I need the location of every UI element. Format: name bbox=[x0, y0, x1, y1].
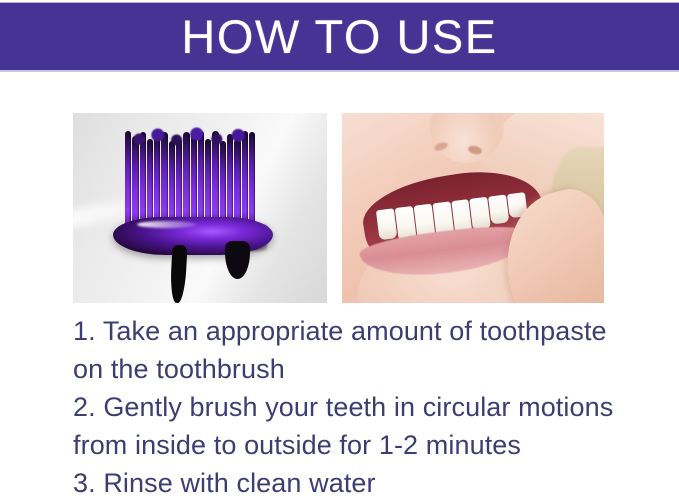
instruction-line: 2. Gently brush your teeth in circular m… bbox=[73, 388, 663, 426]
bristle-tips bbox=[123, 127, 257, 147]
bristle bbox=[220, 141, 226, 229]
how-to-use-banner: HOW TO USE bbox=[0, 2, 679, 72]
bristle bbox=[234, 139, 240, 229]
instructions-list: 1. Take an appropriate amount of toothpa… bbox=[73, 312, 663, 502]
bristle bbox=[176, 139, 182, 229]
tooth bbox=[376, 208, 397, 239]
bristle bbox=[147, 139, 153, 229]
bristle bbox=[191, 134, 197, 229]
instruction-line: 1. Take an appropriate amount of toothpa… bbox=[73, 312, 663, 350]
page-title: HOW TO USE bbox=[181, 13, 497, 60]
photo-row bbox=[73, 113, 604, 303]
smile-photo bbox=[342, 113, 604, 303]
tooth bbox=[470, 197, 492, 231]
bristle bbox=[169, 141, 175, 229]
toothpaste-drip-secondary bbox=[225, 241, 250, 279]
brush-head-highlight bbox=[137, 221, 197, 228]
toothpaste-drip bbox=[169, 245, 187, 303]
bristle bbox=[205, 139, 211, 229]
toothbrush-photo bbox=[73, 113, 327, 303]
tooth bbox=[488, 194, 509, 224]
bristle bbox=[227, 134, 233, 229]
instruction-line: 3. Rinse with clean water bbox=[73, 464, 663, 502]
bristle bbox=[132, 136, 138, 229]
instruction-line: from inside to outside for 1-2 minutes bbox=[73, 426, 663, 464]
bristle bbox=[154, 134, 160, 229]
instruction-line: on the toothbrush bbox=[73, 350, 663, 388]
